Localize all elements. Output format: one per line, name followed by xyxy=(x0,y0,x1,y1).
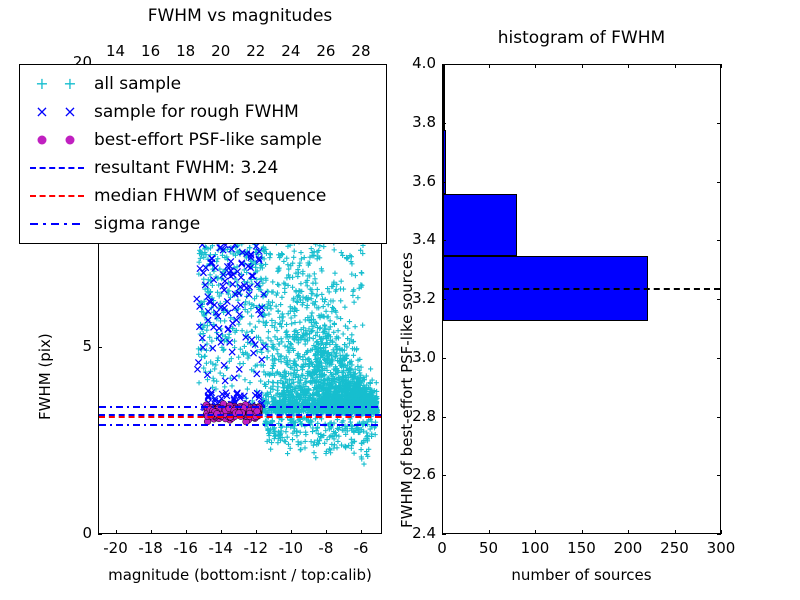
legend-handle: ×× xyxy=(26,102,88,122)
refline-sigma-lower xyxy=(99,424,381,426)
histogram-y-tick-right xyxy=(717,123,721,124)
plus-marker-icon: + xyxy=(35,76,48,92)
x-tick-bottom xyxy=(186,530,187,534)
legend-label: all sample xyxy=(94,74,181,94)
histogram-refline xyxy=(443,288,720,290)
figure-canvas: FWHM vs magnitudes magnitude (bottom:isn… xyxy=(0,0,800,600)
circle-marker-icon xyxy=(66,136,75,145)
histogram-y-tick-right xyxy=(717,64,721,65)
histogram-bar xyxy=(443,130,446,195)
histogram-x-ticklabel: 50 xyxy=(465,539,513,557)
dashed-line-icon xyxy=(30,195,84,197)
legend-row: sigma range xyxy=(26,210,378,238)
legend-label: sigma range xyxy=(94,214,200,234)
dashdot-line-icon xyxy=(30,223,84,225)
dashed-line-icon xyxy=(30,167,84,169)
histogram-x-tick-top xyxy=(628,64,629,68)
psf-sample-points xyxy=(203,401,263,425)
y-ticklabel-left: 5 xyxy=(54,337,92,355)
legend-handle xyxy=(26,214,88,234)
legend-row: ++all sample xyxy=(26,70,378,98)
legend-handle xyxy=(26,186,88,206)
histogram-bar xyxy=(443,65,445,130)
histogram-x-ticklabel: 300 xyxy=(697,539,745,557)
x-tick-bottom xyxy=(221,530,222,534)
legend-handle xyxy=(26,158,88,178)
histogram-x-tick xyxy=(628,530,629,534)
circle-marker-icon xyxy=(38,136,47,145)
histogram-x-tick xyxy=(582,530,583,534)
histogram-y-ticklabel: 3.6 xyxy=(394,172,436,190)
x-tick-bottom xyxy=(326,530,327,534)
histogram-x-tick-top xyxy=(721,64,722,68)
cross-marker-icon: × xyxy=(35,104,48,120)
histogram-y-tick-right xyxy=(717,240,721,241)
histogram-x-ticklabel: 100 xyxy=(511,539,559,557)
histogram-axes xyxy=(442,64,721,534)
histogram-y-tick-right xyxy=(717,358,721,359)
x-ticklabel-top: 28 xyxy=(337,42,385,60)
right-panel-xlabel: number of sources xyxy=(442,566,721,584)
legend-label: resultant FWHM: 3.24 xyxy=(94,158,278,178)
x-tick-bottom xyxy=(256,530,257,534)
legend-row: ××sample for rough FWHM xyxy=(26,98,378,126)
histogram-y-tick xyxy=(442,64,446,65)
histogram-x-tick-top xyxy=(489,64,490,68)
x-tick-bottom xyxy=(361,530,362,534)
histogram-bar xyxy=(443,194,517,256)
legend-label: sample for rough FWHM xyxy=(94,102,299,122)
histogram-y-tick xyxy=(442,534,446,535)
legend-row: resultant FWHM: 3.24 xyxy=(26,154,378,182)
y-ticklabel-left: 0 xyxy=(54,524,92,542)
legend-label: median FHWM of sequence xyxy=(94,186,326,206)
histogram-y-tick xyxy=(442,240,446,241)
legend-handle xyxy=(26,130,88,150)
histogram-x-tick-top xyxy=(582,64,583,68)
x-tick-bottom xyxy=(151,530,152,534)
histogram-y-ticklabel: 2.8 xyxy=(394,407,436,425)
legend-row: median FHWM of sequence xyxy=(26,182,378,210)
histogram-x-tick xyxy=(721,530,722,534)
histogram-x-ticklabel: 250 xyxy=(651,539,699,557)
y-tick-left xyxy=(98,347,102,348)
histogram-y-tick-right xyxy=(717,475,721,476)
histogram-x-tick-top xyxy=(535,64,536,68)
histogram-y-tick-right xyxy=(717,299,721,300)
histogram-y-ticklabel: 2.6 xyxy=(394,465,436,483)
refline-median-fhwm-of-sequence xyxy=(99,416,381,418)
left-panel-xlabel: magnitude (bottom:isnt / top:calib) xyxy=(98,566,382,584)
histogram-plot-area xyxy=(443,65,720,533)
histogram-y-tick-right xyxy=(717,417,721,418)
histogram-y-tick xyxy=(442,358,446,359)
histogram-x-tick xyxy=(489,530,490,534)
histogram-y-tick-right xyxy=(717,534,721,535)
legend-handle: ++ xyxy=(26,74,88,94)
histogram-y-ticklabel: 2.4 xyxy=(394,524,436,542)
histogram-y-ticklabel: 3.0 xyxy=(394,348,436,366)
histogram-y-ticklabel: 3.4 xyxy=(394,230,436,248)
legend-label: best-effort PSF-like sample xyxy=(94,130,322,150)
histogram-x-tick-top xyxy=(675,64,676,68)
legend-row: best-effort PSF-like sample xyxy=(26,126,378,154)
y-tick-left xyxy=(98,534,102,535)
histogram-x-tick xyxy=(535,530,536,534)
left-panel-title: FWHM vs magnitudes xyxy=(98,6,382,26)
right-panel-title: histogram of FWHM xyxy=(442,28,721,48)
x-tick-bottom xyxy=(116,530,117,534)
histogram-x-tick xyxy=(675,530,676,534)
histogram-y-tick xyxy=(442,123,446,124)
left-panel-ylabel: FWHM (pix) xyxy=(36,333,54,420)
refline-sigma-upper xyxy=(99,406,381,408)
plot-legend: ++all sample××sample for rough FWHMbest-… xyxy=(19,64,387,244)
histogram-x-ticklabel: 150 xyxy=(558,539,606,557)
histogram-x-ticklabel: 200 xyxy=(604,539,652,557)
histogram-y-ticklabel: 4.0 xyxy=(394,54,436,72)
x-tick-bottom xyxy=(291,530,292,534)
histogram-y-tick xyxy=(442,475,446,476)
cross-marker-icon: × xyxy=(63,104,76,120)
histogram-y-tick xyxy=(442,417,446,418)
x-ticklabel-bottom: -6 xyxy=(337,539,385,557)
histogram-y-ticklabel: 3.2 xyxy=(394,289,436,307)
histogram-y-tick-right xyxy=(717,182,721,183)
histogram-y-ticklabel: 3.8 xyxy=(394,113,436,131)
plus-marker-icon: + xyxy=(63,76,76,92)
histogram-y-tick xyxy=(442,182,446,183)
histogram-y-tick xyxy=(442,299,446,300)
